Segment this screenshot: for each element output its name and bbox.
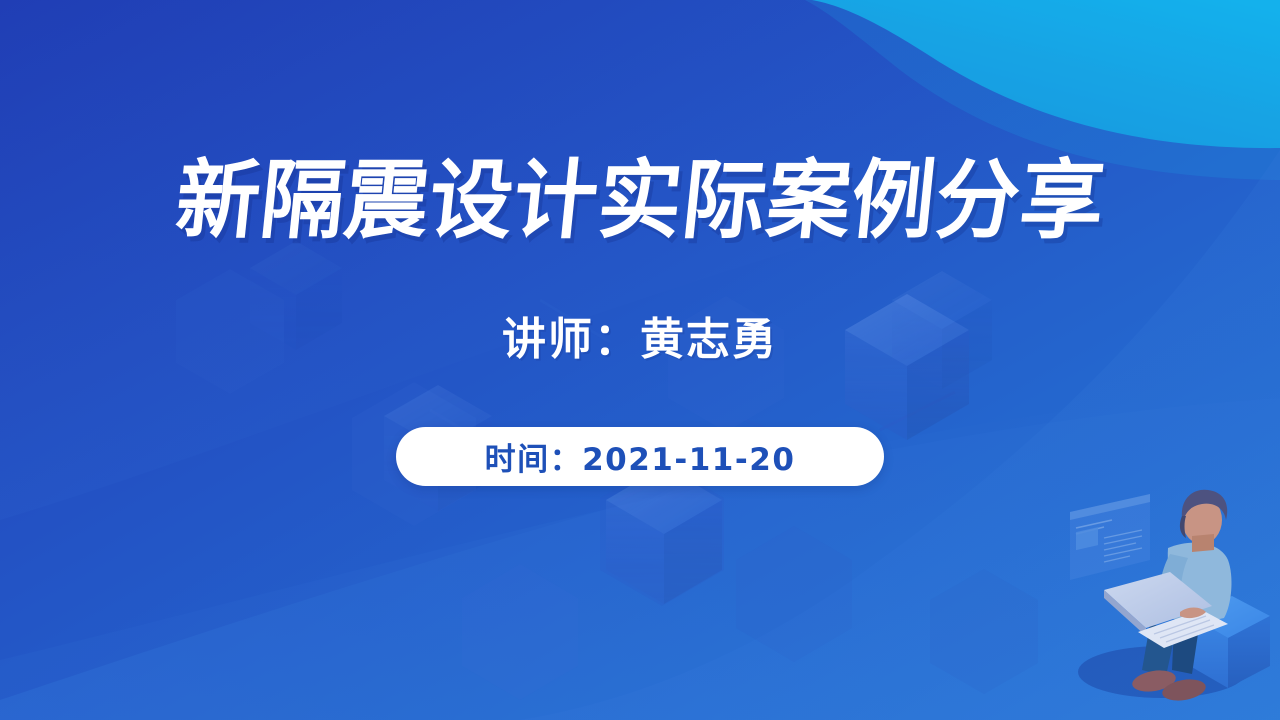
speaker-name-text: 讲师：黄志勇 bbox=[502, 314, 778, 365]
floating-ui-panel bbox=[1070, 494, 1150, 580]
date-text: 时间：2021-11-20 bbox=[485, 434, 796, 479]
person-laptop-illustration bbox=[1042, 476, 1274, 712]
date-badge-container: 时间：2021-11-20 bbox=[0, 427, 1280, 486]
page-title: 新隔震设计实际案例分享 bbox=[0, 158, 1280, 246]
title-slide: 新隔震设计实际案例分享 讲师：黄志勇 时间：2021-11-20 bbox=[0, 0, 1280, 720]
speaker-line: 讲师：黄志勇 bbox=[0, 303, 1280, 367]
main-title-text: 新隔震设计实际案例分享 bbox=[171, 158, 1108, 246]
neck bbox=[1192, 534, 1214, 552]
date-badge: 时间：2021-11-20 bbox=[396, 427, 884, 486]
